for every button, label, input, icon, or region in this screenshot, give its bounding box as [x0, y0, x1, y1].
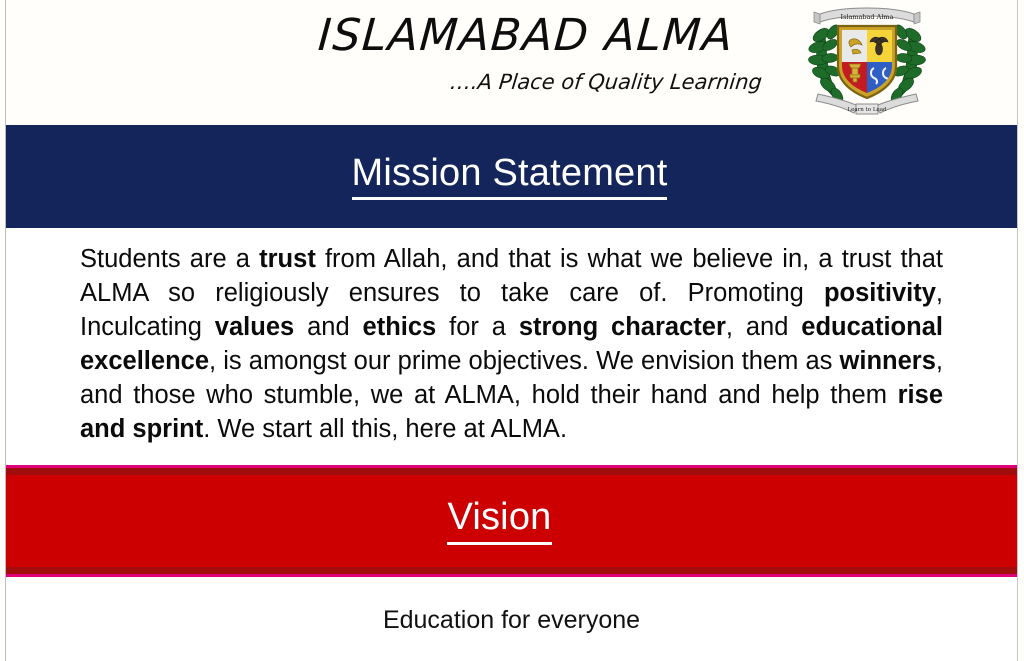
slide-frame-right-line [1017, 0, 1018, 661]
shield-quadrant-top-left [842, 30, 867, 62]
vision-body: Education for everyone [6, 577, 1017, 661]
vision-heading: Vision [447, 497, 551, 545]
crest-bottom-banner-text: Learn to Lead [847, 107, 887, 113]
slide-root: ISLAMABAD ALMA ….A Place of Quality Lear… [0, 0, 1024, 661]
crest-svg: Islamabad Alma Learn to Lead [802, 2, 932, 118]
header: ISLAMABAD ALMA ….A Place of Quality Lear… [6, 0, 1017, 125]
mission-band: Mission Statement [6, 125, 1017, 228]
page-title: ISLAMABAD ALMA [274, 10, 778, 61]
shield-icon [838, 26, 896, 98]
mission-paragraph: Students are a trust from Allah, and tha… [80, 242, 943, 446]
mission-body: Students are a trust from Allah, and tha… [6, 228, 1017, 465]
mission-heading: Mission Statement [352, 153, 668, 201]
crest-top-banner: Islamabad Alma [814, 8, 920, 24]
vision-text: Education for everyone [383, 605, 640, 635]
brand-tagline: ….A Place of Quality Learning [275, 70, 778, 94]
school-crest-icon: Islamabad Alma Learn to Lead [802, 2, 932, 118]
brand-block: ISLAMABAD ALMA ….A Place of Quality Lear… [6, 0, 796, 120]
vision-band: Vision [6, 465, 1017, 577]
crest-top-banner-text: Islamabad Alma [841, 13, 894, 21]
